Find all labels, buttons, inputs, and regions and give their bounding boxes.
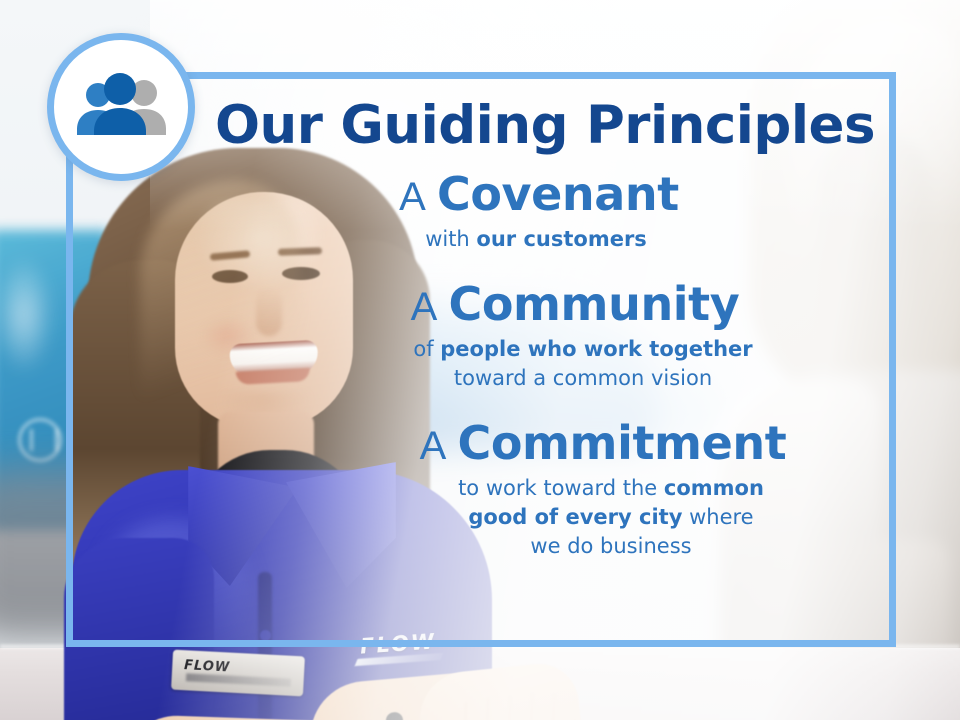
principle-3-sub-line2-bold: good of every city <box>468 505 682 529</box>
principle-3-heading: A Commitment <box>258 419 948 467</box>
principle-1-article: A <box>399 175 426 219</box>
principle-3-sub-bold: common <box>664 476 764 500</box>
employee-sleeve <box>64 538 214 720</box>
principle-2-sub-bold: people who work together <box>440 337 752 361</box>
principle-3-article: A <box>420 424 447 468</box>
principle-1-subtext: with our customers <box>191 225 881 254</box>
principle-2-keyword: Community <box>448 277 739 331</box>
principle-2-article: A <box>411 285 438 329</box>
principle-3-keyword: Commitment <box>457 416 786 470</box>
principle-3-sub-plain: to work toward the <box>458 476 664 500</box>
principle-1-keyword: Covenant <box>437 167 679 221</box>
principle-commitment: A Commitment to work toward the common g… <box>200 419 890 561</box>
guiding-principles-graphic: FLOW FLOW <box>0 0 960 720</box>
principle-3-sub-line2-plain: where <box>682 505 753 529</box>
principle-1-heading: A Covenant <box>194 170 884 218</box>
principle-3-subtext: to work toward the common good of every … <box>266 474 956 561</box>
principle-1-sub-bold: our customers <box>476 227 646 251</box>
principle-community: A Community of people who work together … <box>200 280 890 393</box>
page-title: Our Guiding Principles <box>200 98 890 154</box>
principle-covenant: A Covenant with our customers <box>200 170 890 254</box>
principle-2-subtext: of people who work together toward a com… <box>238 335 928 393</box>
people-group-icon <box>69 71 173 143</box>
principle-3-sub-line3: we do business <box>530 534 691 558</box>
display-panel-glow <box>0 255 54 375</box>
principle-2-sub-line2: toward a common vision <box>454 366 712 390</box>
principle-2-sub-plain: of <box>413 337 440 361</box>
vw-logo-icon <box>18 418 62 462</box>
text-block: Our Guiding Principles A Covenant with o… <box>200 80 890 640</box>
principle-1-sub-plain: with <box>425 227 476 251</box>
principle-2-heading: A Community <box>230 280 920 328</box>
people-group-badge <box>47 33 195 181</box>
